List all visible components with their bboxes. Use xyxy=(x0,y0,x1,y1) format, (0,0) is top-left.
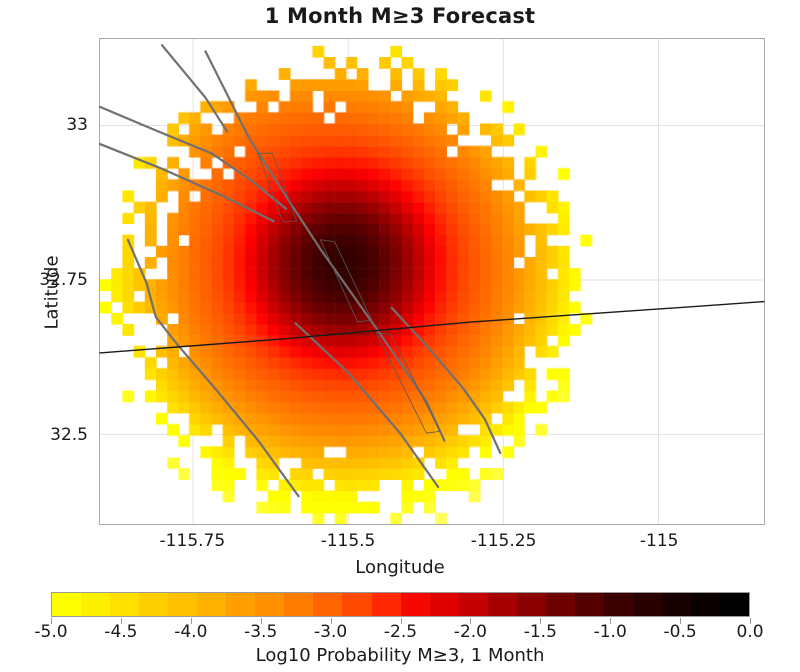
colorbar-swatch-6 xyxy=(226,593,255,616)
x-tick-label-1: -115.5 xyxy=(321,531,376,551)
colorbar-swatch-23 xyxy=(720,593,749,616)
colorbar-swatch-2 xyxy=(110,593,139,616)
colorbar-tick-label-1: -4.5 xyxy=(104,622,137,642)
colorbar-swatch-17 xyxy=(546,593,575,616)
forecast-map-plot xyxy=(99,38,765,525)
x-axis-label: Longitude xyxy=(0,557,800,578)
colorbar-swatch-13 xyxy=(430,593,459,616)
colorbar-swatch-14 xyxy=(459,593,488,616)
colorbar-tick-label-4: -3.0 xyxy=(314,622,347,642)
fault-line-north-cross-fault xyxy=(162,45,227,132)
x-tick-label-3: -115 xyxy=(640,531,679,551)
y-axis-label: Latitude xyxy=(42,233,63,353)
colorbar-tick-label-10: 0.0 xyxy=(736,622,763,642)
x-tick-label-0: -115.75 xyxy=(160,531,226,551)
colorbar-swatch-18 xyxy=(575,593,604,616)
fault-and-border-overlay xyxy=(100,39,764,524)
fault-line-superstition-hills-fault xyxy=(100,107,286,209)
fault-line-imperial-fault-north xyxy=(128,240,299,496)
border-line-us-mexico-border xyxy=(100,302,764,353)
fault-line-elmore-ranch-fault xyxy=(100,144,274,221)
page-title: 1 Month M≥3 Forecast xyxy=(0,4,800,28)
y-tick-label-2: 32.5 xyxy=(0,425,88,445)
colorbar-swatch-22 xyxy=(691,593,720,616)
colorbar-gradient xyxy=(51,592,750,617)
colorbar-swatch-5 xyxy=(197,593,226,616)
colorbar-swatch-0 xyxy=(52,593,81,616)
colorbar-tick-label-5: -2.5 xyxy=(384,622,417,642)
colorbar-tick-label-9: -0.5 xyxy=(664,622,697,642)
colorbar-swatch-15 xyxy=(488,593,517,616)
colorbar-tick-label-2: -4.0 xyxy=(174,622,207,642)
colorbar-swatch-4 xyxy=(168,593,197,616)
colorbar-swatch-10 xyxy=(342,593,371,616)
colorbar-swatch-20 xyxy=(633,593,662,616)
colorbar-tick-label-0: -5.0 xyxy=(34,622,67,642)
colorbar-swatch-8 xyxy=(284,593,313,616)
colorbar xyxy=(51,592,750,617)
colorbar-swatch-9 xyxy=(313,593,342,616)
colorbar-swatch-19 xyxy=(604,593,633,616)
colorbar-tick-label-3: -3.5 xyxy=(244,622,277,642)
colorbar-swatch-21 xyxy=(662,593,691,616)
colorbar-swatch-7 xyxy=(255,593,284,616)
colorbar-swatch-16 xyxy=(517,593,546,616)
colorbar-swatch-1 xyxy=(81,593,110,616)
fault-line-main-rupture-trace xyxy=(205,51,444,440)
colorbar-tick-label-7: -1.5 xyxy=(524,622,557,642)
fault-line-laguna-salada-fault xyxy=(392,308,501,453)
colorbar-label: Log10 Probability M≥3, 1 Month xyxy=(0,645,800,666)
colorbar-swatch-3 xyxy=(139,593,168,616)
colorbar-tick-label-6: -2.0 xyxy=(454,622,487,642)
x-tick-label-2: -115.25 xyxy=(471,531,537,551)
fault-line-imperial-fault-south xyxy=(296,323,439,487)
colorbar-tick-label-8: -1.0 xyxy=(594,622,627,642)
colorbar-swatch-11 xyxy=(372,593,401,616)
y-tick-label-0: 33 xyxy=(0,115,88,135)
colorbar-swatch-12 xyxy=(401,593,430,616)
